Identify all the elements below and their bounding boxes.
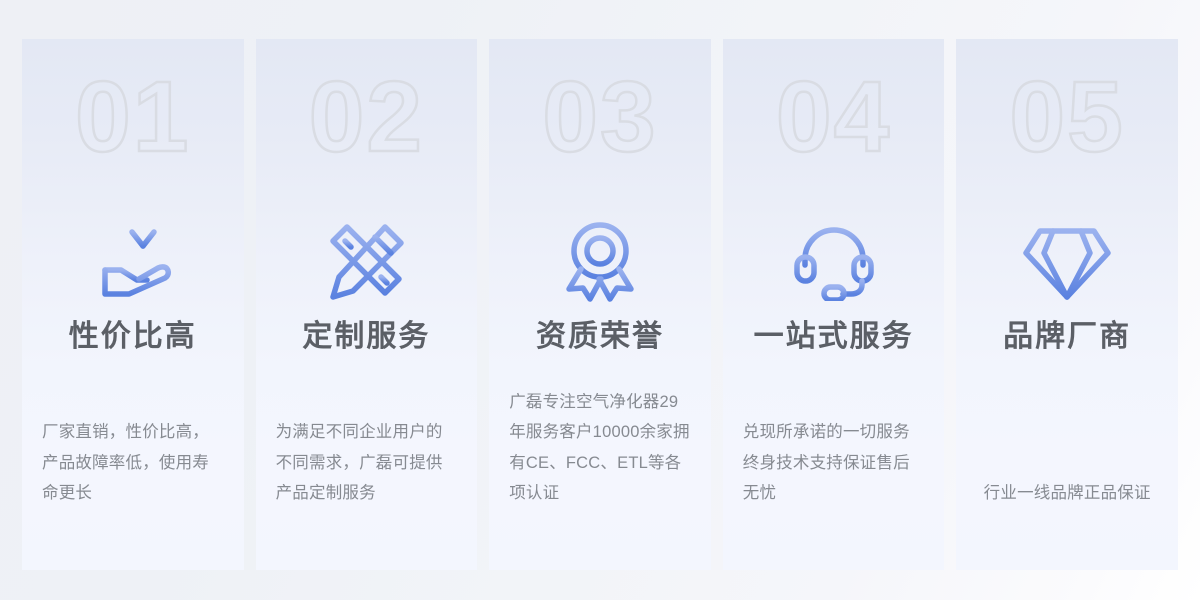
pencil-ruler-icon <box>318 219 414 303</box>
award-ribbon-icon <box>552 219 648 303</box>
card-description-wrap: 行业一线品牌正品保证 <box>956 355 1178 509</box>
headset-icon <box>786 219 882 303</box>
card-title: 品牌厂商 <box>1003 319 1131 355</box>
features-strip: 01 性价比高 <box>0 0 1200 600</box>
card-title: 一站式服务 <box>754 319 914 355</box>
diamond-icon <box>1019 219 1115 303</box>
card-number: 05 <box>956 63 1178 171</box>
feature-card-2[interactable]: 02 定制服务 为满足不同企业用户的不同需求，广磊可提供产品定制服务 <box>256 39 478 570</box>
feature-card-5[interactable]: 05 品牌厂商 行业一线品牌正品保证 <box>956 39 1178 570</box>
card-number: 01 <box>22 63 244 171</box>
feature-card-3[interactable]: 03 资质荣誉 广磊专注空气净化器29年服务客户10000余家拥有CE、FCC、… <box>489 39 711 570</box>
card-description: 兑现所承诺的一切服务终身技术支持保证售后无忧 <box>723 417 945 509</box>
card-description: 行业一线品牌正品保证 <box>956 478 1178 509</box>
card-title: 定制服务 <box>302 319 430 355</box>
feature-card-4[interactable]: 04 一站式服务 兑现所承诺的一切服务终身技术支持保证售后无忧 <box>723 39 945 570</box>
card-title: 资质荣誉 <box>536 319 664 355</box>
card-number: 03 <box>489 63 711 171</box>
card-description: 广磊专注空气净化器29年服务客户10000余家拥有CE、FCC、ETL等各项认证 <box>489 387 711 509</box>
card-description: 厂家直销，性价比高，产品故障率低，使用寿命更长 <box>22 417 244 509</box>
feature-card-1[interactable]: 01 性价比高 <box>22 39 244 570</box>
card-description-wrap: 兑现所承诺的一切服务终身技术支持保证售后无忧 <box>723 355 945 509</box>
card-description-wrap: 为满足不同企业用户的不同需求，广磊可提供产品定制服务 <box>256 355 478 509</box>
card-description-wrap: 广磊专注空气净化器29年服务客户10000余家拥有CE、FCC、ETL等各项认证 <box>489 355 711 509</box>
hand-holding-yuan-icon <box>85 219 181 303</box>
card-description-wrap: 厂家直销，性价比高，产品故障率低，使用寿命更长 <box>22 355 244 509</box>
card-title: 性价比高 <box>69 319 197 355</box>
card-description: 为满足不同企业用户的不同需求，广磊可提供产品定制服务 <box>256 417 478 509</box>
card-number: 02 <box>256 63 478 171</box>
card-number: 04 <box>723 63 945 171</box>
